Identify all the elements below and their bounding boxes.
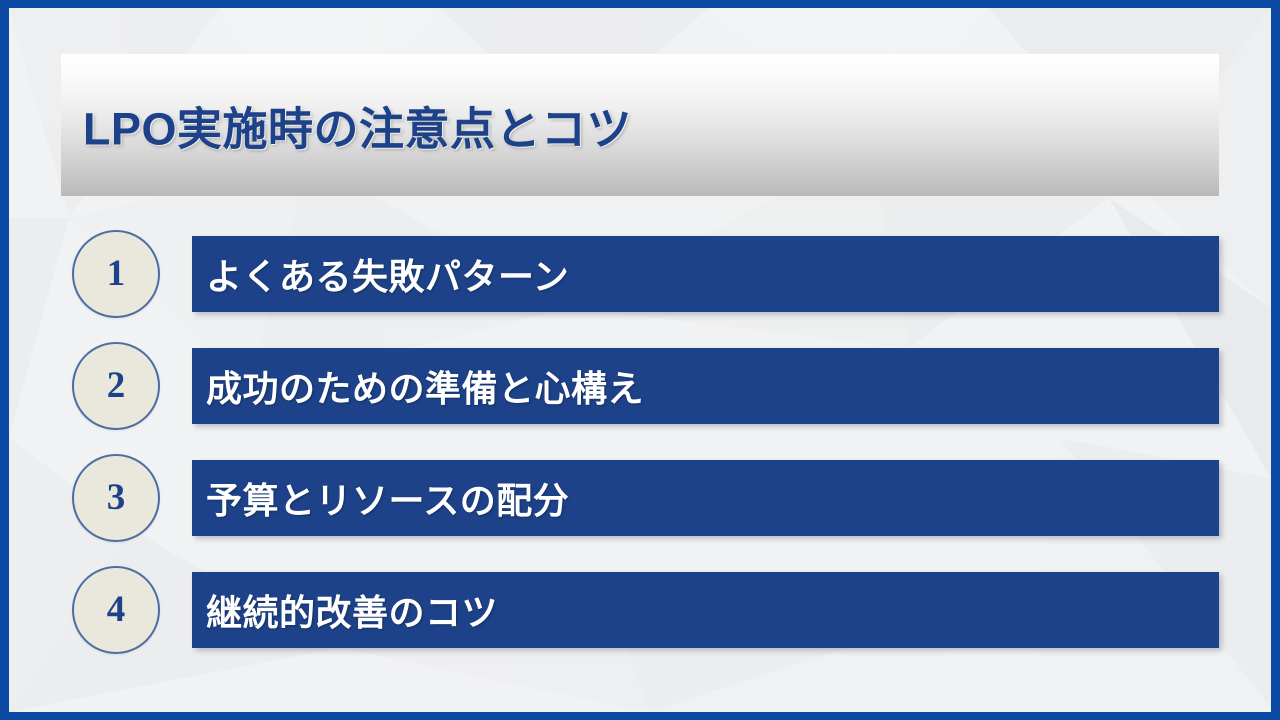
list-item-number: 2	[107, 367, 126, 406]
list-item-number-badge: 1	[72, 230, 160, 318]
list-item[interactable]: 4 継続的改善のコツ	[9, 572, 1271, 648]
slide-stage: LPO実施時の注意点とコツ 1 よくある失敗パターン 2 成功のための準備と心構…	[9, 8, 1271, 712]
list-item-bar[interactable]: 予算とリソースの配分	[192, 460, 1219, 536]
list-item-label: よくある失敗パターン	[206, 248, 569, 300]
list-item[interactable]: 3 予算とリソースの配分	[9, 460, 1271, 536]
list-item[interactable]: 1 よくある失敗パターン	[9, 236, 1271, 312]
list-item-bar[interactable]: よくある失敗パターン	[192, 236, 1219, 312]
list-item-number: 4	[107, 591, 126, 630]
numbered-list: 1 よくある失敗パターン 2 成功のための準備と心構え 3	[9, 8, 1271, 712]
list-item-number: 1	[107, 255, 126, 294]
list-item-bar[interactable]: 成功のための準備と心構え	[192, 348, 1219, 424]
list-item-label: 成功のための準備と心構え	[206, 360, 644, 412]
list-item-bar[interactable]: 継続的改善のコツ	[192, 572, 1219, 648]
list-item-number-badge: 2	[72, 342, 160, 430]
slide-frame: LPO実施時の注意点とコツ 1 よくある失敗パターン 2 成功のための準備と心構…	[0, 0, 1280, 720]
list-item-number-badge: 3	[72, 454, 160, 542]
list-item[interactable]: 2 成功のための準備と心構え	[9, 348, 1271, 424]
list-item-label: 継続的改善のコツ	[206, 584, 498, 636]
list-item-number: 3	[107, 479, 126, 518]
list-item-label: 予算とリソースの配分	[206, 472, 569, 524]
list-item-number-badge: 4	[72, 566, 160, 654]
